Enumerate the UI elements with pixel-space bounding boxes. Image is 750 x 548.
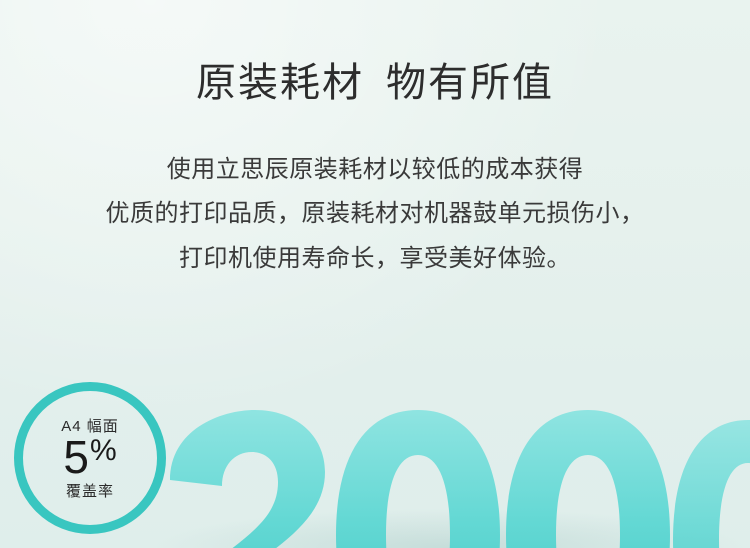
description-line-2: 优质的打印品质，原装耗材对机器鼓单元损伤小， xyxy=(0,192,750,236)
coverage-badge: A4 幅面 5% 覆盖率 xyxy=(14,382,166,534)
numeral-2 xyxy=(165,410,328,548)
headline-part-2: 物有所值 xyxy=(386,61,554,105)
description-line-1: 使用立思辰原装耗材以较低的成本获得 xyxy=(0,148,750,192)
description-text: 使用立思辰原装耗材以较低的成本获得 优质的打印品质，原装耗材对机器鼓单元损伤小，… xyxy=(0,148,750,281)
promo-page: 原装耗材物有所值 使用立思辰原装耗材以较低的成本获得 优质的打印品质，原装耗材对… xyxy=(0,0,750,548)
numeral-0-b xyxy=(506,410,670,548)
description-line-3: 打印机使用寿命长，享受美好体验。 xyxy=(0,237,750,281)
badge-bottom-label: 覆盖率 xyxy=(66,480,114,501)
numeral-0-a xyxy=(336,410,500,548)
page-title: 原装耗材物有所值 xyxy=(0,58,750,108)
decorative-numerals xyxy=(160,410,750,548)
headline-part-1: 原装耗材 xyxy=(196,61,364,105)
badge-value: 5 xyxy=(63,434,89,480)
badge-value-group: 5% xyxy=(63,434,116,480)
badge-unit: % xyxy=(90,434,117,467)
numeral-0-c xyxy=(673,420,750,548)
